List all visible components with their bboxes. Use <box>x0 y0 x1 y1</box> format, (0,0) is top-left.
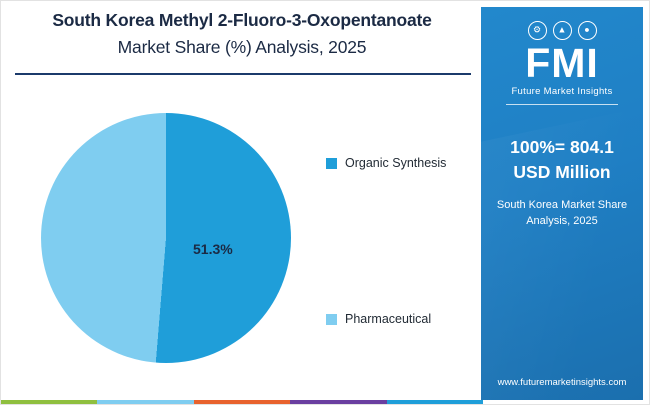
fmi-logo: ⚙ ▲ ● FMI Future Market Insights <box>481 19 643 105</box>
legend-item-organic-synthesis[interactable]: Organic Synthesis <box>326 156 446 170</box>
chart-title: South Korea Methyl 2-Fluoro-3-Oxopentano… <box>1 7 483 61</box>
strip-segment <box>1 400 97 405</box>
pie-slices <box>41 113 291 363</box>
logo-underline <box>506 104 618 105</box>
legend-swatch-organic-synthesis <box>326 158 337 169</box>
stat-block: 100%= 804.1 USD Million <box>481 135 643 185</box>
bottom-color-strip <box>1 400 483 405</box>
legend-label-organic-synthesis: Organic Synthesis <box>345 156 446 170</box>
strip-segment <box>387 400 483 405</box>
logo-wordmark: FMI <box>481 41 643 85</box>
legend-label-pharmaceutical: Pharmaceutical <box>345 312 431 326</box>
logo-tagline: Future Market Insights <box>481 85 643 99</box>
pie-data-label-organic-synthesis: 51.3% <box>193 241 233 257</box>
bulb-icon: ● <box>578 21 597 40</box>
stat-value-line-1: 100%= 804.1 <box>481 135 643 160</box>
gear-icon: ⚙ <box>528 21 547 40</box>
chart-title-line-2: Market Share (%) Analysis, 2025 <box>1 33 483 61</box>
stat-value-line-2: USD Million <box>481 160 643 185</box>
brand-panel: ⚙ ▲ ● FMI Future Market Insights 100%= 8… <box>481 7 643 400</box>
strip-segment <box>97 400 193 405</box>
pie-chart: 51.3% <box>41 113 291 363</box>
chart-title-line-1: South Korea Methyl 2-Fluoro-3-Oxopentano… <box>1 7 483 33</box>
strip-segment <box>194 400 290 405</box>
chart-icon: ▲ <box>553 21 572 40</box>
legend-swatch-pharmaceutical <box>326 314 337 325</box>
chart-panel: South Korea Methyl 2-Fluoro-3-Oxopentano… <box>1 1 483 405</box>
brand-url[interactable]: www.futuremarketinsights.com <box>481 377 643 388</box>
legend-item-pharmaceutical[interactable]: Pharmaceutical <box>326 312 431 326</box>
chart-page: South Korea Methyl 2-Fluoro-3-Oxopentano… <box>0 0 650 405</box>
strip-segment <box>290 400 386 405</box>
logo-icon-row: ⚙ ▲ ● <box>481 19 643 41</box>
stat-caption: South Korea Market Share Analysis, 2025 <box>491 197 633 229</box>
title-divider <box>15 73 471 75</box>
